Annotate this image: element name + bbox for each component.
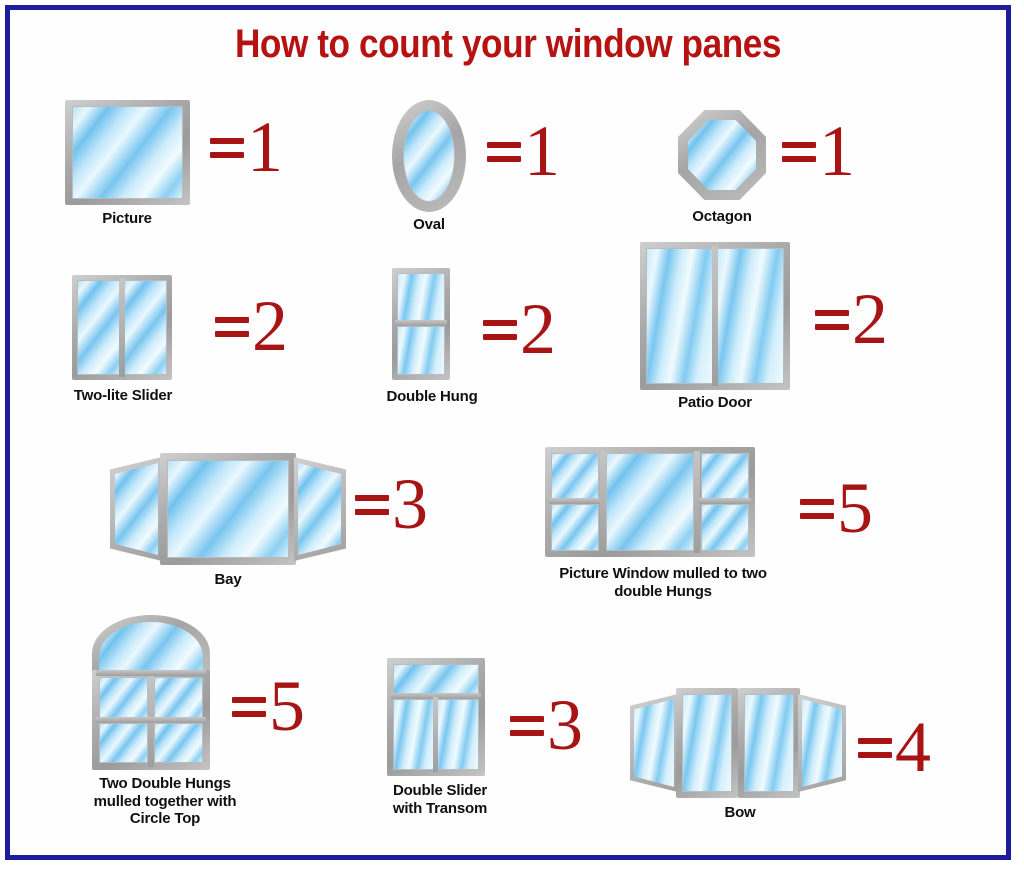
window-label-bay: Bay — [215, 571, 242, 589]
window-label-oval: Oval — [413, 216, 445, 234]
equals-icon — [355, 495, 389, 515]
pane-count-value: 3 — [392, 475, 428, 534]
glass-pane — [688, 120, 756, 190]
pane-count-value: 5 — [837, 479, 873, 538]
glass-pane — [397, 326, 445, 375]
window-label-patio-door: Patio Door — [678, 394, 752, 412]
pane-count-value: 2 — [520, 300, 556, 359]
pane-count-value: 2 — [252, 297, 288, 356]
glass-pane — [393, 699, 435, 770]
glass-pane — [634, 699, 674, 787]
window-label-two-lite-slider: Two-lite Slider — [74, 387, 172, 405]
glass-pane — [744, 694, 794, 792]
window-item-bay: Bay 3 — [110, 453, 450, 593]
octagon-window-figure — [678, 110, 766, 200]
pane-count-double-hung: 2 — [483, 300, 556, 359]
glass-pane — [154, 723, 203, 763]
equals-icon — [782, 142, 816, 162]
glass-pane — [682, 694, 732, 792]
mullion — [600, 451, 606, 553]
window-label-octagon: Octagon — [692, 208, 751, 226]
glass-pane — [123, 280, 167, 375]
glass-pane — [551, 453, 599, 499]
glass-pane — [115, 463, 158, 555]
mullion — [96, 717, 206, 723]
equals-icon — [483, 320, 517, 340]
window-label-circle-top: Two Double Hungs mulled together with Ci… — [94, 775, 237, 828]
bay-window-figure — [110, 453, 345, 563]
page-title: How to count your window panes — [70, 22, 946, 67]
glass-pane — [646, 248, 713, 384]
picture-window-figure — [65, 100, 190, 205]
mullion — [549, 498, 601, 504]
window-item-patio-door: Patio Door 2 — [630, 242, 910, 412]
glass-pane — [77, 280, 121, 375]
mullion — [712, 246, 718, 386]
window-item-two-lite-slider: Two-lite Slider 2 — [60, 275, 330, 410]
window-label-double-slider: Double Slider with Transom — [393, 782, 487, 817]
equals-icon — [858, 738, 892, 758]
glass-pane — [397, 273, 445, 322]
equals-icon — [210, 138, 244, 158]
glass-pane — [99, 677, 148, 719]
pane-count-patio-door: 2 — [815, 290, 888, 349]
pane-count-picture-mulled: 5 — [800, 479, 873, 538]
pane-count-value: 1 — [524, 122, 560, 181]
window-label-picture-mulled: Picture Window mulled to two double Hung… — [559, 565, 767, 600]
pane-count-bow: 4 — [858, 718, 931, 777]
glass-pane — [802, 699, 842, 787]
circle-top-figure — [92, 615, 210, 770]
mullion — [96, 670, 206, 676]
pane-count-picture: 1 — [210, 118, 283, 177]
window-item-circle-top: Two Double Hungs mulled together with Ci… — [70, 615, 390, 835]
glass-pane — [606, 453, 694, 551]
poster-inner: How to count your window panes Picture 1… — [10, 10, 1006, 855]
two-lite-slider-figure — [72, 275, 172, 380]
pane-count-two-lite-slider: 2 — [215, 297, 288, 356]
window-item-picture: Picture 1 — [60, 100, 320, 230]
bow-window-figure — [630, 688, 848, 796]
poster-frame: How to count your window panes Picture 1… — [5, 5, 1011, 860]
window-label-double-hung: Double Hung — [386, 388, 477, 406]
pane-count-double-slider: 3 — [510, 696, 583, 755]
oval-window-figure — [392, 100, 466, 212]
glass-pane — [403, 110, 455, 202]
pane-count-value: 2 — [852, 290, 888, 349]
equals-icon — [800, 499, 834, 519]
pane-count-value: 4 — [895, 718, 931, 777]
pane-count-value: 3 — [547, 696, 583, 755]
mullion — [433, 697, 438, 772]
glass-pane — [72, 106, 183, 199]
glass-pane — [99, 723, 148, 763]
glass-pane — [298, 463, 341, 555]
window-item-double-hung: Double Hung 2 — [380, 268, 610, 408]
pane-count-value: 1 — [819, 122, 855, 181]
glass-pane — [717, 248, 784, 384]
mullion — [395, 320, 447, 326]
pane-count-oval: 1 — [487, 122, 560, 181]
equals-icon — [215, 317, 249, 337]
glass-pane — [393, 664, 479, 694]
pane-count-octagon: 1 — [782, 122, 855, 181]
mullion — [119, 278, 125, 377]
glass-pane — [437, 699, 479, 770]
equals-icon — [510, 716, 544, 736]
pane-count-value: 1 — [247, 118, 283, 177]
window-item-picture-mulled: Picture Window mulled to two double Hung… — [515, 447, 905, 602]
patio-door-figure — [640, 242, 790, 390]
glass-pane — [701, 453, 749, 499]
window-item-oval: Oval 1 — [382, 100, 612, 230]
pane-count-bay: 3 — [355, 475, 428, 534]
double-slider-figure — [387, 658, 485, 776]
window-item-double-slider: Double Slider with Transom 3 — [382, 658, 622, 833]
equals-icon — [815, 310, 849, 330]
window-label-bow: Bow — [724, 804, 755, 822]
pane-count-circle-top: 5 — [232, 677, 305, 736]
window-label-picture: Picture — [102, 210, 151, 228]
equals-icon — [232, 697, 266, 717]
picture-mulled-figure — [545, 447, 755, 557]
window-item-octagon: Octagon 1 — [670, 110, 900, 235]
glass-pane — [154, 677, 203, 719]
window-item-bow: Bow 4 — [630, 688, 960, 828]
pane-count-value: 5 — [269, 677, 305, 736]
glass-pane — [701, 504, 749, 551]
glass-pane — [167, 460, 289, 558]
double-hung-figure — [392, 268, 450, 380]
glass-pane — [551, 504, 599, 551]
mullion — [699, 498, 751, 504]
equals-icon — [487, 142, 521, 162]
